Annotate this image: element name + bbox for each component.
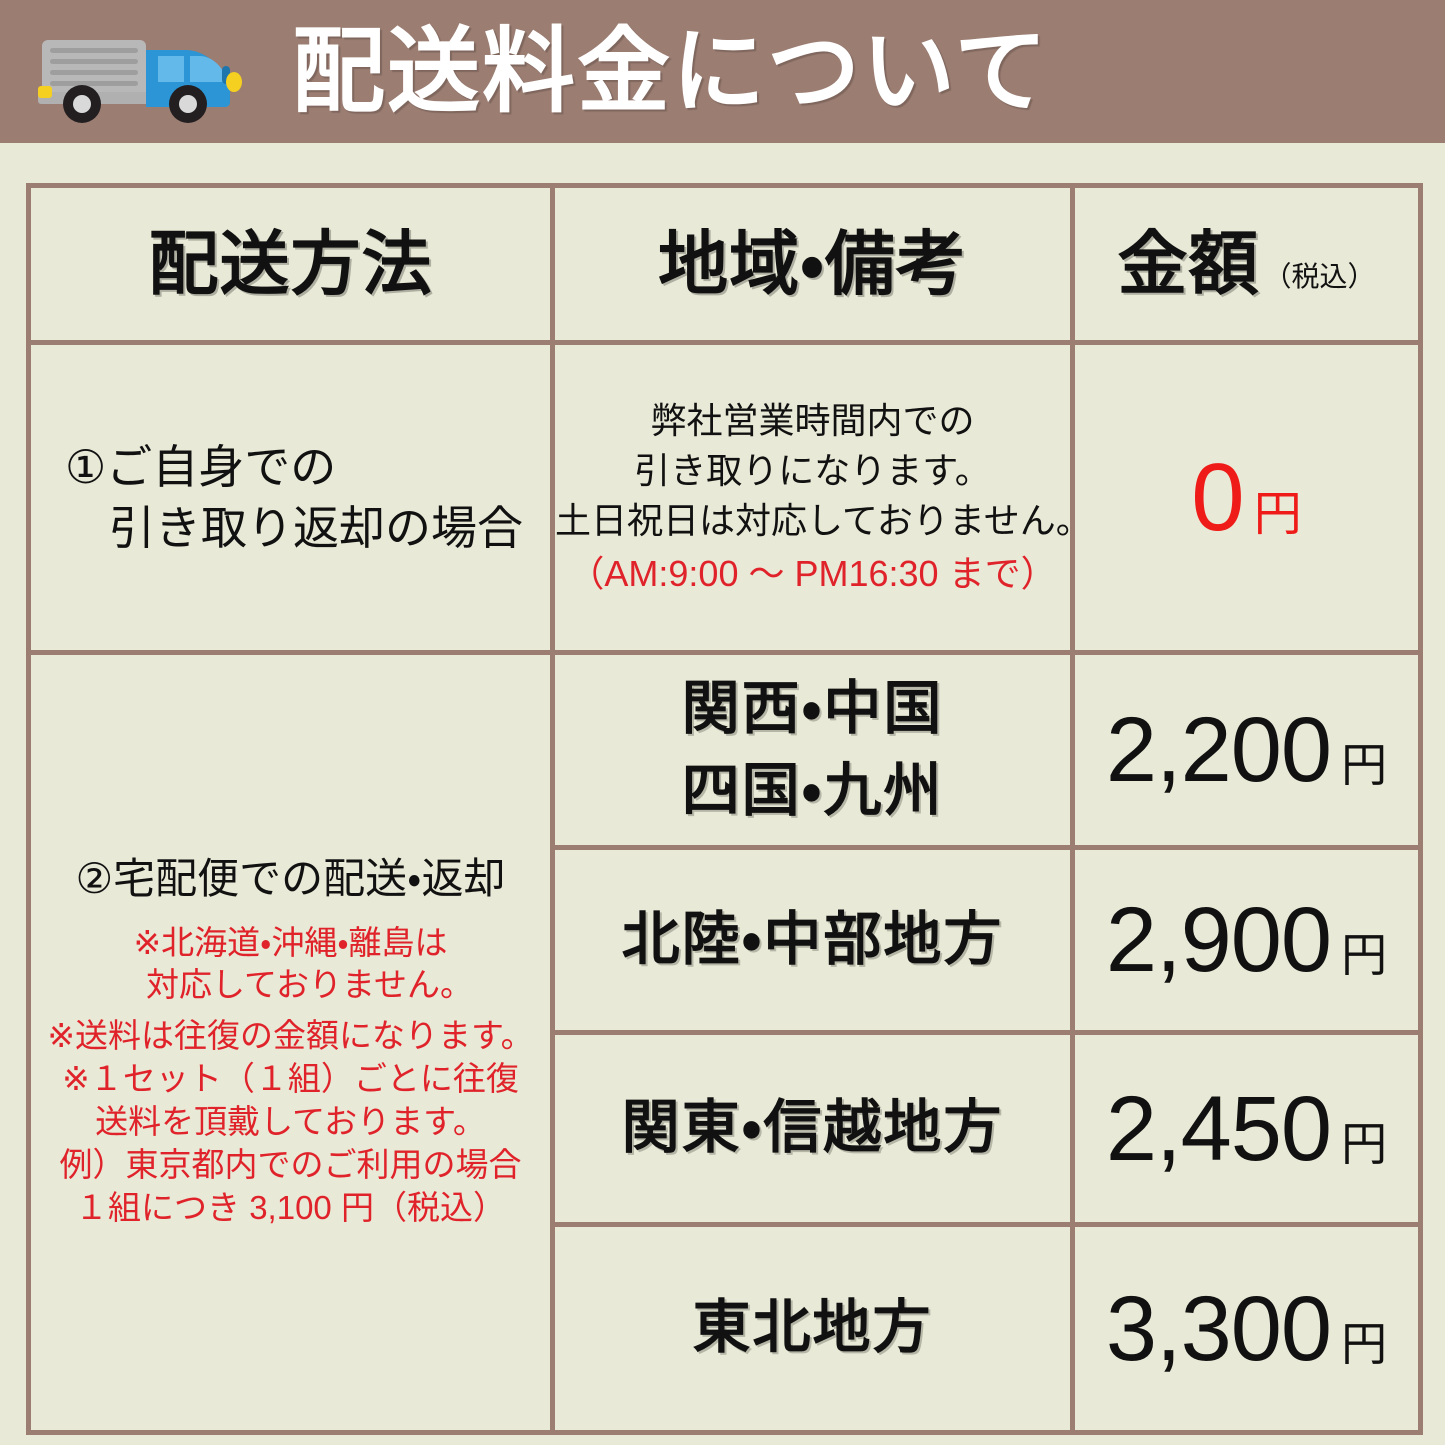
amount-unit-region-3: 円 bbox=[1341, 1121, 1387, 1167]
courier-note-6: 例）東京都内でのご利用の場合 bbox=[31, 1144, 550, 1187]
region-3-text: 関東・信越地方 bbox=[555, 1087, 1070, 1169]
courier-note-4: ※１セット（１組）ごとに往復 bbox=[31, 1058, 550, 1101]
amount-unit-region-4: 円 bbox=[1341, 1321, 1387, 1367]
amount-value-region-2: 2,900 bbox=[1106, 894, 1331, 986]
cell-method-courier: ②宅配便での配送・返却 ※北海道・沖縄・離島は 対応しておりません。 ※送料は往… bbox=[29, 653, 553, 1433]
region-4-line1: 東北地方 bbox=[555, 1287, 1070, 1369]
method-self-pickup-text: ①ご自身での 引き取り返却の場合 bbox=[31, 437, 550, 558]
courier-note-7: １組につき 3,100 円（税込） bbox=[31, 1187, 550, 1230]
remark-business-hours: （AM:9:00 ～ PM16:30 まで） bbox=[555, 549, 1070, 599]
cell-region-1: 関西・中国 四国・九州 bbox=[553, 653, 1073, 848]
column-header-method-label: 配送方法 bbox=[31, 229, 550, 299]
method-courier-title: ②宅配便での配送・返却 bbox=[31, 855, 550, 903]
region-4-text: 東北地方 bbox=[555, 1287, 1070, 1369]
shipping-fee-table: 配送方法 地域・備考 金額 （税込） ①ご自身での bbox=[26, 183, 1423, 1435]
remark-line-1: 弊社営業時間内での bbox=[555, 396, 1070, 446]
amount-unit-region-1: 円 bbox=[1341, 742, 1387, 788]
table-header-row: 配送方法 地域・備考 金額 （税込） bbox=[29, 186, 1421, 343]
amount-unit-region-2: 円 bbox=[1341, 932, 1387, 978]
column-header-amount: 金額 （税込） bbox=[1073, 186, 1421, 343]
courier-note-3: ※送料は往復の金額になります。 bbox=[31, 1015, 550, 1058]
amount-unit-self-pickup: 円 bbox=[1254, 491, 1302, 539]
cell-amount-region-2: 2,900 円 bbox=[1073, 848, 1421, 1033]
region-1-text: 関西・中国 四国・九州 bbox=[555, 668, 1070, 833]
courier-note-2: 対応しておりません。 bbox=[31, 964, 550, 1007]
column-header-amount-label: 金額 bbox=[1117, 229, 1259, 299]
remark-line-3: 土日祝日は対応しておりません。 bbox=[555, 496, 1070, 546]
amount-value-region-1: 2,200 bbox=[1106, 704, 1331, 796]
method-self-pickup-line2: 引き取り返却の場合 bbox=[65, 498, 550, 559]
region-2-text: 北陸・中部地方 bbox=[555, 899, 1070, 981]
cell-amount-region-4: 3,300 円 bbox=[1073, 1225, 1421, 1433]
method-courier-notes: ※北海道・沖縄・離島は 対応しておりません。 ※送料は往復の金額になります。 ※… bbox=[31, 922, 550, 1230]
region-2-line1: 北陸・中部地方 bbox=[555, 899, 1070, 981]
cell-amount-self-pickup: 0 円 bbox=[1073, 343, 1421, 653]
cell-amount-region-3: 2,450 円 bbox=[1073, 1033, 1421, 1225]
cell-region-4: 東北地方 bbox=[553, 1225, 1073, 1433]
cell-amount-region-1: 2,200 円 bbox=[1073, 653, 1421, 848]
cell-region-3: 関東・信越地方 bbox=[553, 1033, 1073, 1225]
region-1-line2: 四国・九州 bbox=[555, 750, 1070, 832]
method-self-pickup-line1: ①ご自身での bbox=[65, 437, 550, 498]
header-band: 配送料金について bbox=[0, 0, 1445, 143]
region-1-line1: 関西・中国 bbox=[555, 668, 1070, 750]
cell-method-self-pickup: ①ご自身での 引き取り返却の場合 bbox=[29, 343, 553, 653]
column-header-region: 地域・備考 bbox=[553, 186, 1073, 343]
remark-line-2: 引き取りになります。 bbox=[555, 446, 1070, 496]
cell-remarks-self-pickup: 弊社営業時間内での 引き取りになります。 土日祝日は対応しておりません。 （AM… bbox=[553, 343, 1073, 653]
page-title: 配送料金について bbox=[292, 25, 1049, 118]
amount-value-region-4: 3,300 bbox=[1106, 1283, 1331, 1375]
column-header-amount-taxnote: （税込） bbox=[1263, 263, 1375, 299]
amount-value-region-3: 2,450 bbox=[1106, 1083, 1331, 1175]
shipping-fee-infographic: 配送料金について 配送方法 地域・備考 金額 （税込） bbox=[0, 0, 1445, 1445]
column-header-method: 配送方法 bbox=[29, 186, 553, 343]
courier-note-1: ※北海道・沖縄・離島は bbox=[31, 922, 550, 965]
cell-region-2: 北陸・中部地方 bbox=[553, 848, 1073, 1033]
delivery-truck-icon bbox=[36, 24, 256, 128]
table-row-self-pickup: ①ご自身での 引き取り返却の場合 弊社営業時間内での 引き取りになります。 土日… bbox=[29, 343, 1421, 653]
table-row-region-kansai-chugoku: ②宅配便での配送・返却 ※北海道・沖縄・離島は 対応しておりません。 ※送料は往… bbox=[29, 653, 1421, 848]
region-3-line1: 関東・信越地方 bbox=[555, 1087, 1070, 1169]
column-header-region-label: 地域・備考 bbox=[555, 229, 1070, 299]
amount-value-self-pickup: 0 bbox=[1191, 450, 1243, 546]
courier-note-5: 送料を頂戴しております。 bbox=[31, 1101, 550, 1144]
